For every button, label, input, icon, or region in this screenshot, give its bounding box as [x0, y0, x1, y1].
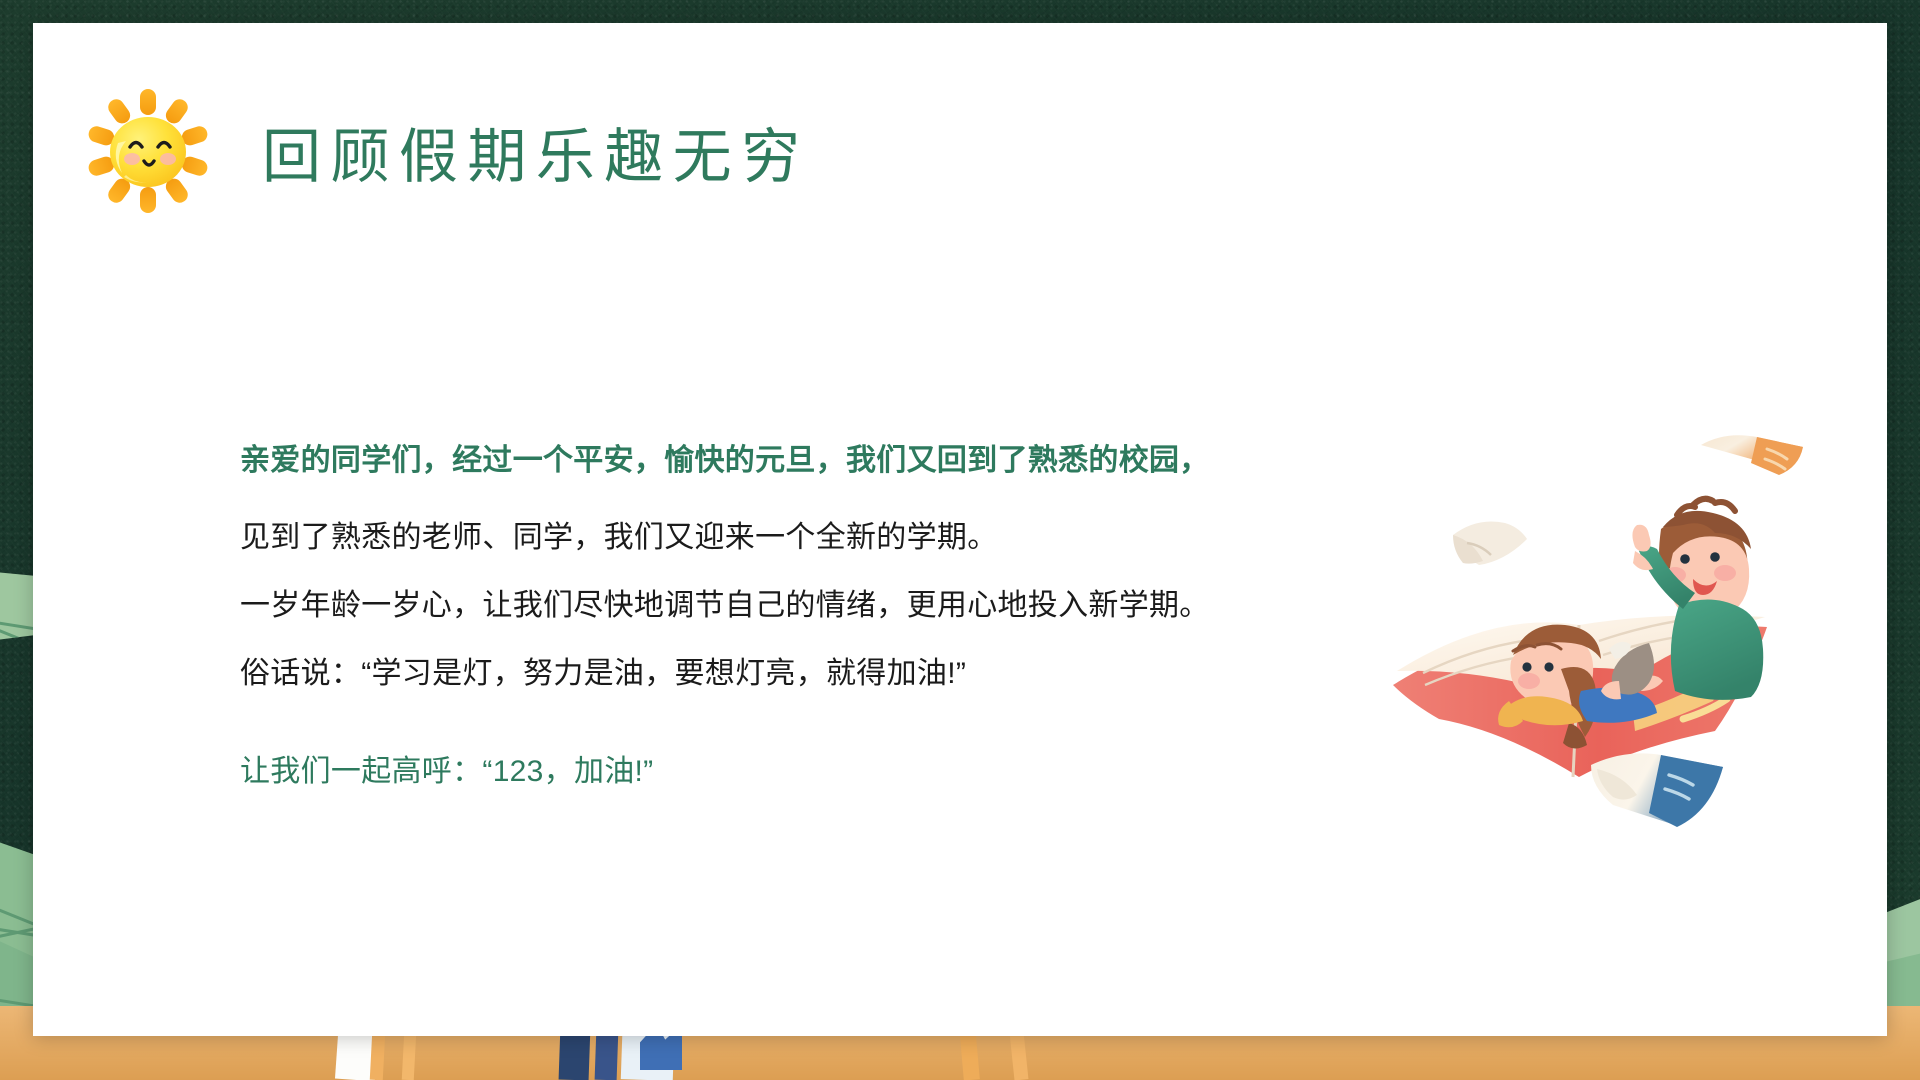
floating-orange-book: [1701, 435, 1803, 475]
body-line-2: 见到了熟悉的老师、同学，我们又迎来一个全新的学期。: [240, 523, 998, 553]
body-line-4: 俗话说：“学习是灯，努力是油，要想灯亮，就得加油!”: [240, 659, 966, 689]
paragraph-row-4: 俗话说：“学习是灯，努力是油，要想灯亮，就得加油!”: [240, 640, 1420, 708]
floating-blue-book: [1591, 753, 1723, 827]
slide-canvas: 回顾假期乐趣无穷 亲爱的同学们，经过一个平安，愉快的元旦，我们又回到了熟悉的校园…: [0, 0, 1920, 1080]
paragraph-row-3: 一岁年龄一岁心，让我们尽快地调节自己的情绪，更用心地投入新学期。: [240, 572, 1420, 640]
body-line-1: 亲爱的同学们，经过一个平安，愉快的元旦，我们又回到了熟悉的校园，: [240, 446, 1210, 476]
paragraph-row-5: 让我们一起高呼：“123，加油!”: [240, 738, 1420, 806]
sun-icon: [78, 81, 218, 221]
body-text-block: 亲爱的同学们，经过一个平安，愉快的元旦，我们又回到了熟悉的校园， 见到了熟悉的老…: [240, 418, 1420, 806]
page-title: 回顾假期乐趣无穷: [262, 109, 810, 194]
body-line-5: 让我们一起高呼：“123，加油!”: [240, 757, 653, 787]
body-line-3: 一岁年龄一岁心，让我们尽快地调节自己的情绪，更用心地投入新学期。: [240, 591, 1210, 621]
children-flying-on-book-illustration: [1363, 423, 1833, 843]
boy-pointing-up: [1601, 499, 1763, 700]
header: 回顾假期乐趣无穷: [78, 81, 810, 221]
paragraph-row-2: 见到了熟悉的老师、同学，我们又迎来一个全新的学期。: [240, 504, 1420, 572]
paragraph-row-1: 亲爱的同学们，经过一个平安，愉快的元旦，我们又回到了熟悉的校园，: [240, 418, 1420, 504]
floating-cream-book: [1453, 522, 1527, 566]
content-card: 回顾假期乐趣无穷 亲爱的同学们，经过一个平安，愉快的元旦，我们又回到了熟悉的校园…: [33, 23, 1887, 1036]
